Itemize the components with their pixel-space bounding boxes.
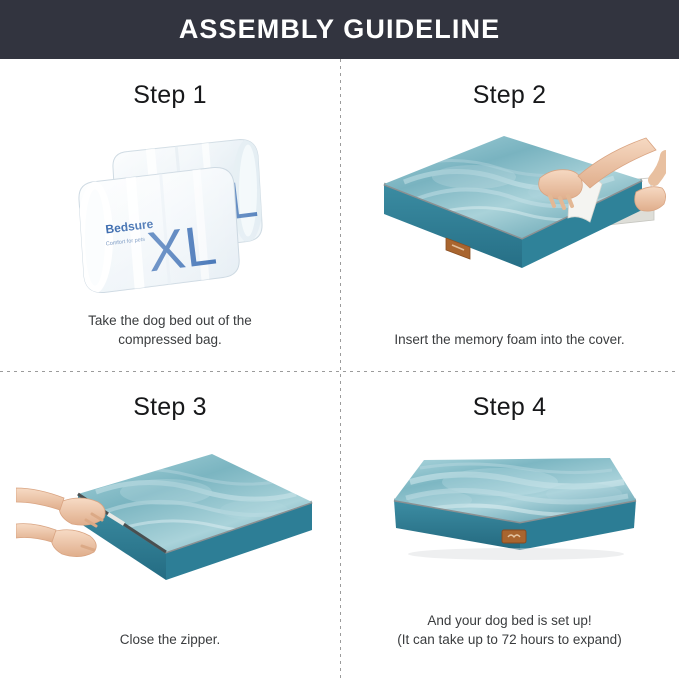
- step-panel-4: Step 4: [340, 371, 679, 679]
- compressed-bag-roll-icon: Bedsure Comfort for pets XL: [0, 110, 340, 311]
- steps-grid: Step 1: [0, 59, 679, 679]
- header-bar: ASSEMBLY GUIDELINE: [0, 0, 679, 59]
- step-4-illustration: [340, 422, 679, 611]
- step-panel-3: Step 3: [0, 371, 340, 679]
- step-4-caption-line-2: (It can take up to 72 hours to expand): [340, 630, 679, 649]
- step-1-caption-line-1: Take the dog bed out of the: [0, 311, 340, 330]
- vertical-divider: [340, 59, 341, 679]
- step-1-illustration: Bedsure Comfort for pets XL: [0, 110, 340, 311]
- step-4-caption-line-1: And your dog bed is set up!: [340, 611, 679, 630]
- step-2-illustration: [340, 110, 679, 330]
- horizontal-divider: [0, 371, 679, 372]
- step-3-caption-line-1: Close the zipper.: [0, 630, 340, 649]
- step-2-title: Step 2: [473, 81, 546, 110]
- step-3-caption: Close the zipper.: [0, 630, 340, 679]
- leather-brand-tag: [502, 530, 526, 543]
- step-3-title: Step 3: [133, 393, 206, 422]
- step-2-caption-line-1: Insert the memory foam into the cover.: [340, 330, 679, 349]
- step-3-illustration: [0, 422, 340, 630]
- step-1-caption-line-2: compressed bag.: [0, 330, 340, 349]
- step-2-caption: Insert the memory foam into the cover.: [340, 330, 679, 371]
- page-title: ASSEMBLY GUIDELINE: [179, 14, 500, 45]
- step-panel-2: Step 2: [340, 59, 679, 371]
- hands-inserting-foam-icon: [354, 122, 666, 292]
- step-panel-1: Step 1: [0, 59, 340, 371]
- hands-closing-zipper-icon: [16, 440, 326, 580]
- step-4-title: Step 4: [473, 393, 546, 422]
- finished-dog-bed-icon: [380, 442, 650, 567]
- bed-shadow: [408, 548, 624, 560]
- step-1-caption: Take the dog bed out of the compressed b…: [0, 311, 340, 371]
- step-1-title: Step 1: [133, 81, 206, 110]
- hand-lower-pulling: [16, 524, 96, 557]
- compressed-bag-front: Bedsure Comfort for pets XL: [77, 164, 239, 296]
- step-4-caption: And your dog bed is set up! (It can take…: [340, 611, 679, 679]
